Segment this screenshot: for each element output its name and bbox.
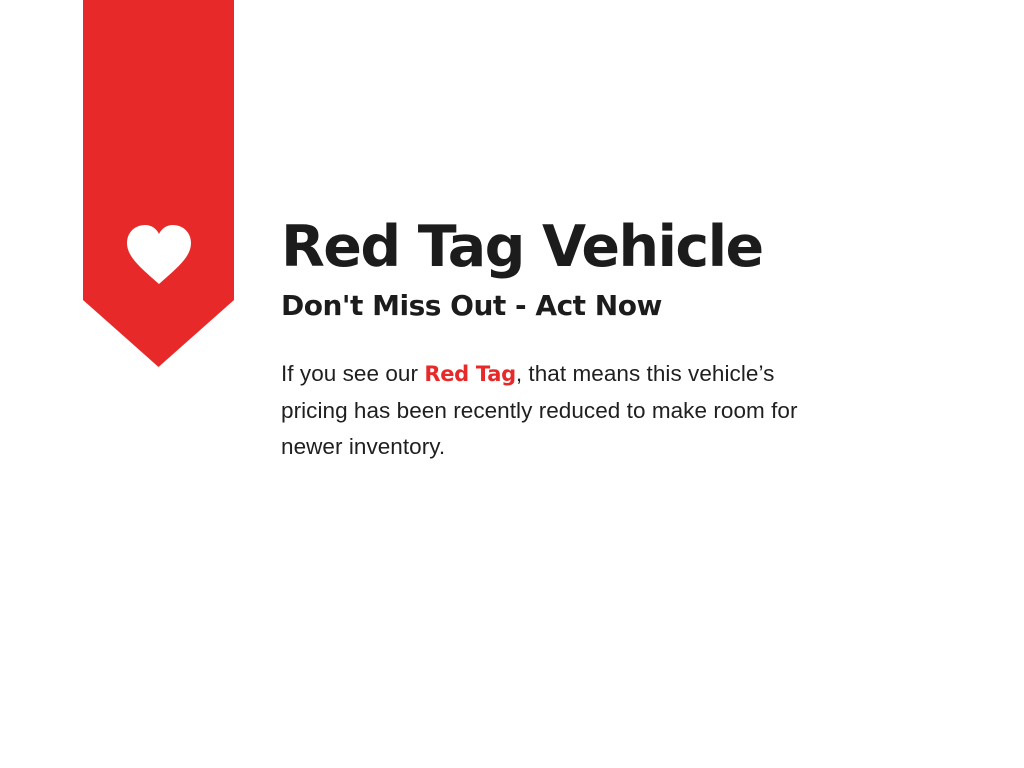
subtitle: Don't Miss Out - Act Now (281, 291, 981, 322)
ribbon-shape (83, 0, 234, 367)
body-paragraph: If you see our Red Tag, that means this … (281, 356, 826, 465)
red-tag-emphasis: Red Tag (424, 362, 515, 386)
page-title: Red Tag Vehicle (281, 218, 981, 277)
body-lead-text: If you see our (281, 361, 424, 386)
red-tag-promo-card: Red Tag Vehicle Don't Miss Out - Act Now… (0, 0, 1024, 768)
red-tag-ribbon (83, 0, 234, 367)
copy-block: Red Tag Vehicle Don't Miss Out - Act Now… (281, 218, 981, 465)
